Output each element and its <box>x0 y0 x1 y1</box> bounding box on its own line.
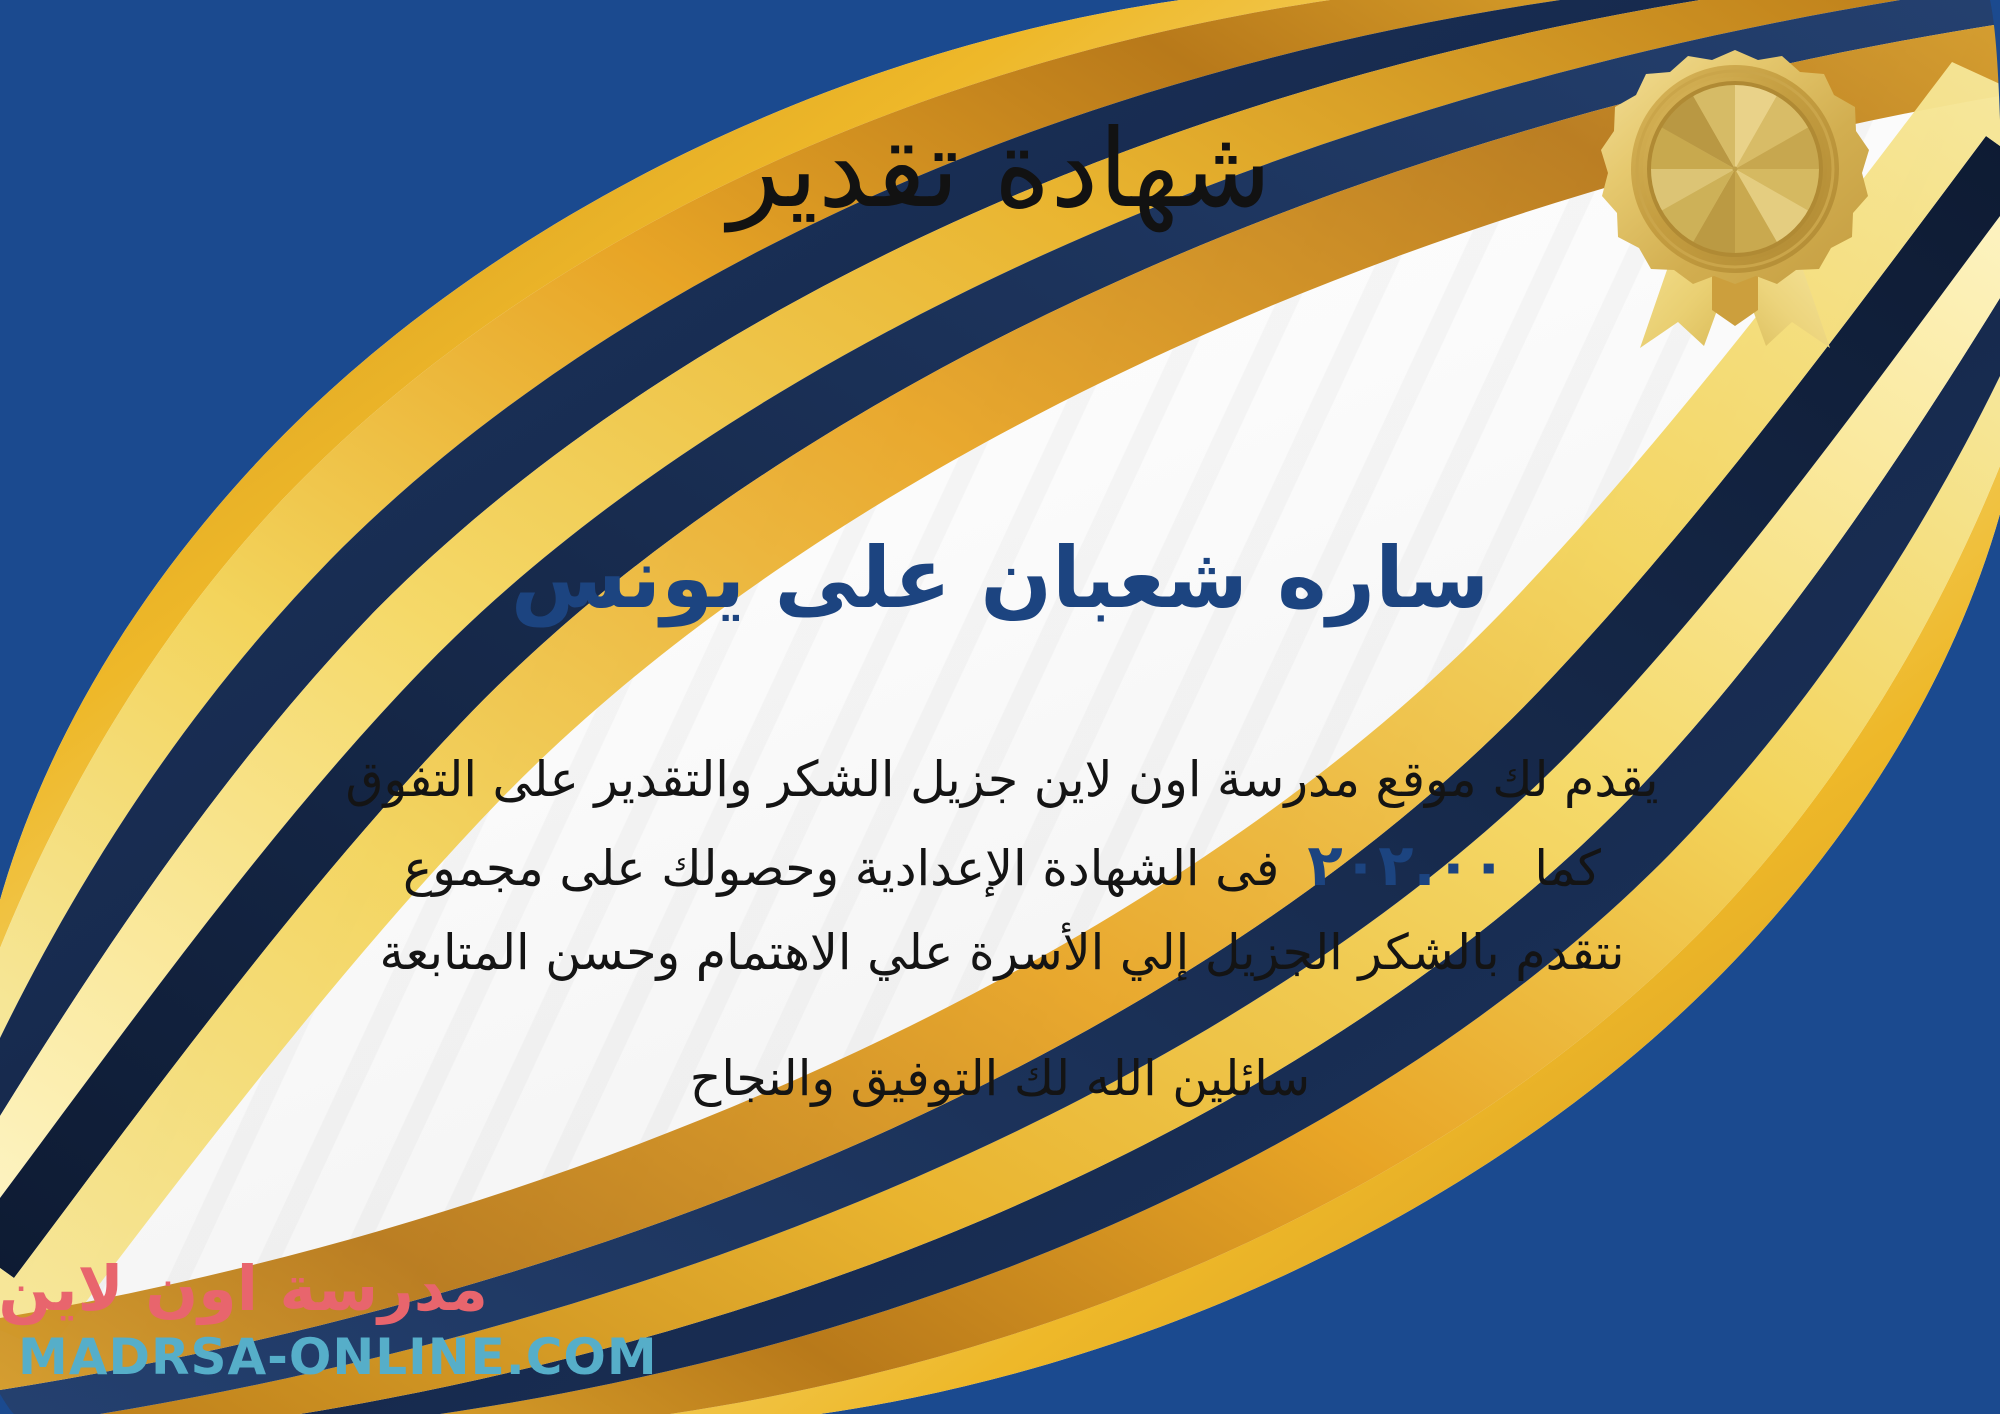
body-line-2: كما ٢٠٢.٠٠ فى الشهادة الإعدادية وحصولك ع… <box>42 819 1962 913</box>
body-line-1: يقدم لك موقع مدرسة اون لاين جزيل الشكر و… <box>42 740 1962 819</box>
body-line-3: نتقدم بالشكر الجزيل إلي الأسرة علي الاهت… <box>42 913 1962 992</box>
brand-logo[interactable]: مدرسة اون لاين <box>18 1236 488 1396</box>
grade-total-value: ٢٠٢.٠٠ <box>1307 819 1506 913</box>
recipient-name: ساره شعبان على يونس <box>0 528 2000 629</box>
logo-website-url[interactable]: MADRSA-ONLINE.COM <box>18 1332 488 1382</box>
body-paragraph: يقدم لك موقع مدرسة اون لاين جزيل الشكر و… <box>42 740 1962 993</box>
certificate-canvas: شهادة تقدير ساره شعبان على يونس يقدم لك … <box>0 0 2000 1414</box>
logo-arabic-name: مدرسة اون لاين <box>0 1258 488 1320</box>
closing-line: سائلين الله لك التوفيق والنجاح <box>0 1040 2000 1118</box>
body-line-2-prefix: كما <box>1534 829 1601 908</box>
logo-top-row: مدرسة اون لاين <box>18 1250 488 1328</box>
body-line-2-suffix: فى الشهادة الإعدادية وحصولك على مجموع <box>403 829 1279 908</box>
page-title: شهادة تقدير <box>0 108 2000 232</box>
